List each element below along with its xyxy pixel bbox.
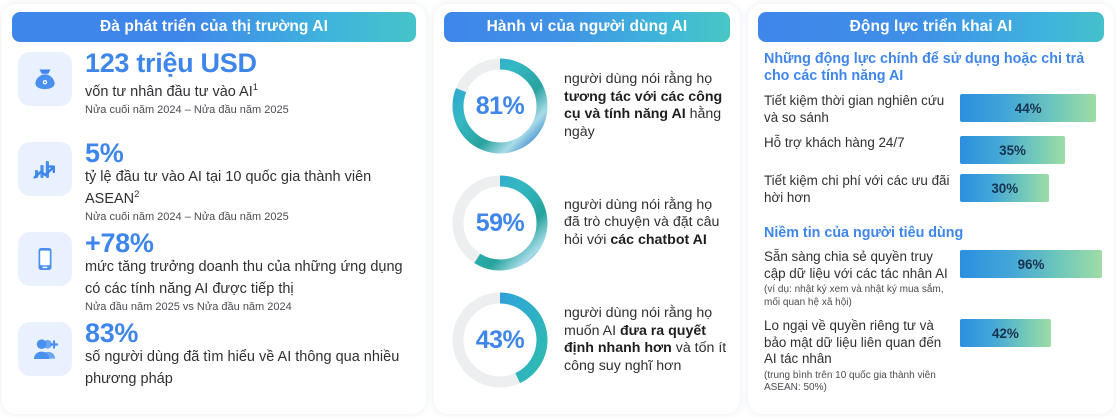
bar-label: Lo ngại về quyền riêng tư và bảo mật dữ … bbox=[764, 318, 954, 368]
users-plus-icon bbox=[18, 322, 72, 376]
donut-value-label: 43% bbox=[448, 288, 552, 392]
stat-description-text: số người dùng đã tìm hiểu về AI thông qu… bbox=[85, 349, 399, 387]
stat-value: 123 triệu USD bbox=[85, 48, 289, 78]
stat-note: Nửa cuối năm 2024 – Nửa đầu năm 2025 bbox=[85, 103, 289, 117]
panel-market-momentum: Đà phát triển của thị trường AI 123 triệ… bbox=[2, 4, 426, 414]
donut-chart-43: 43% bbox=[448, 288, 552, 392]
bar-label: Hỗ trợ khách hàng 24/7 bbox=[764, 135, 954, 152]
bar-row: Tiết kiệm chi phí với các ưu đãi hời hơn… bbox=[764, 173, 1102, 206]
bar-label: Sẵn sàng chia sẻ quyền truy cập dữ liệu … bbox=[764, 249, 954, 282]
stat-description: vốn tư nhân đầu tư vào AI1 bbox=[85, 79, 289, 101]
bar-value-label: 42% bbox=[992, 326, 1019, 341]
stat-note: Nửa cuối năm 2024 – Nửa đầu năm 2025 bbox=[85, 210, 416, 224]
bar-label: Tiết kiệm chi phí với các ưu đãi hời hơn bbox=[764, 173, 954, 206]
donut-description: người dùng nói rằng họ tương tác với các… bbox=[564, 71, 730, 141]
panel-title-market-momentum: Đà phát triển của thị trường AI bbox=[12, 12, 416, 42]
stat-value: +78% bbox=[85, 228, 416, 258]
bar-fill: 96% bbox=[960, 250, 1102, 278]
bar-label-wrap: Tiết kiệm thời gian nghiên cứu và so sán… bbox=[764, 93, 960, 126]
stat-row: 83% số người dùng đã tìm hiểu về AI thôn… bbox=[18, 318, 416, 408]
bar-row: Lo ngại về quyền riêng tư và bảo mật dữ … bbox=[764, 318, 1102, 395]
footnote-marker: 1 bbox=[253, 82, 258, 93]
stat-list: 123 triệu USD vốn tư nhân đầu tư vào AI1… bbox=[12, 42, 416, 408]
donut-chart-81: 81% bbox=[448, 54, 552, 158]
donut-description: người dùng nói rằng họ muốn AI đưa ra qu… bbox=[564, 305, 730, 375]
bar-value-label: 30% bbox=[991, 181, 1018, 196]
bar-track: 96% bbox=[960, 249, 1102, 278]
donut-row: 59% người dùng nói rằng họ đã trò chuyện… bbox=[448, 169, 730, 277]
section-heading-drivers: Những động lực chính để sử dụng hoặc chi… bbox=[764, 51, 1102, 85]
bar-fill: 44% bbox=[960, 94, 1096, 122]
stat-note: Nửa đầu năm 2025 vs Nửa đầu năm 2024 bbox=[85, 300, 416, 314]
panel-adoption-drivers: Động lực triển khai AI Những động lực ch… bbox=[748, 4, 1114, 414]
bar-value-label: 35% bbox=[999, 143, 1026, 158]
donut-value-label: 81% bbox=[448, 54, 552, 158]
bar-value-label: 44% bbox=[1015, 101, 1042, 116]
bar-chart-list: Những động lực chính để sử dụng hoặc chi… bbox=[758, 42, 1104, 404]
footnote-marker: 2 bbox=[134, 189, 139, 200]
panel-title-user-behaviour: Hành vi của người dùng AI bbox=[444, 12, 730, 42]
smartphone-icon bbox=[18, 232, 72, 286]
stat-description: số người dùng đã tìm hiểu về AI thông qu… bbox=[85, 349, 416, 388]
stat-value: 5% bbox=[85, 138, 416, 168]
bar-track: 30% bbox=[960, 173, 1102, 202]
panel-user-behaviour: Hành vi của người dùng AI bbox=[434, 4, 740, 414]
panel-title-adoption-drivers: Động lực triển khai AI bbox=[758, 12, 1104, 42]
stat-row: 123 triệu USD vốn tư nhân đầu tư vào AI1… bbox=[18, 48, 416, 138]
stat-description: tỷ lệ đầu tư vào AI tại 10 quốc gia thàn… bbox=[85, 169, 416, 208]
section-heading-trust: Niềm tin của người tiêu dùng bbox=[764, 225, 1102, 242]
donut-value-label: 59% bbox=[448, 171, 552, 275]
donut-description: người dùng nói rằng họ đã trò chuyện và … bbox=[564, 197, 730, 250]
bar-row: Sẵn sàng chia sẻ quyền truy cập dữ liệu … bbox=[764, 249, 1102, 309]
bar-fill: 35% bbox=[960, 136, 1065, 164]
bar-label-wrap: Tiết kiệm chi phí với các ưu đãi hời hơn bbox=[764, 173, 960, 206]
stat-body: 123 triệu USD vốn tư nhân đầu tư vào AI1… bbox=[85, 48, 289, 117]
donut-chart-59: 59% bbox=[448, 171, 552, 275]
bar-row: Hỗ trợ khách hàng 24/7 35% bbox=[764, 135, 1102, 164]
bar-sublabel: (ví dụ: nhật ký xem và nhật ký mua sắm, … bbox=[764, 284, 954, 309]
bar-track: 42% bbox=[960, 318, 1102, 347]
bar-label-wrap: Sẵn sàng chia sẻ quyền truy cập dữ liệu … bbox=[764, 249, 960, 309]
stat-description-text: mức tăng trưởng doanh thu của những ứng … bbox=[85, 259, 403, 297]
bar-label-wrap: Hỗ trợ khách hàng 24/7 bbox=[764, 135, 960, 152]
bar-label: Tiết kiệm thời gian nghiên cứu và so sán… bbox=[764, 93, 954, 126]
stat-body: 83% số người dùng đã tìm hiểu về AI thôn… bbox=[85, 318, 416, 390]
bar-sublabel: (trung bình trên 10 quốc gia thành viên … bbox=[764, 370, 954, 395]
bar-row: Tiết kiệm thời gian nghiên cứu và so sán… bbox=[764, 93, 1102, 126]
bar-label-wrap: Lo ngại về quyền riêng tư và bảo mật dữ … bbox=[764, 318, 960, 395]
bar-value-label: 96% bbox=[1018, 257, 1045, 272]
bar-fill: 30% bbox=[960, 174, 1049, 202]
growth-chart-icon bbox=[18, 142, 72, 196]
stat-body: +78% mức tăng trưởng doanh thu của những… bbox=[85, 228, 416, 314]
stat-description-text: tỷ lệ đầu tư vào AI tại 10 quốc gia thàn… bbox=[85, 169, 371, 207]
stat-row: +78% mức tăng trưởng doanh thu của những… bbox=[18, 228, 416, 318]
stat-value: 83% bbox=[85, 318, 416, 348]
bar-track: 35% bbox=[960, 135, 1102, 164]
donut-row: 43% người dùng nói rằng họ muốn AI đưa r… bbox=[448, 286, 730, 394]
bar-track: 44% bbox=[960, 93, 1102, 122]
stat-body: 5% tỷ lệ đầu tư vào AI tại 10 quốc gia t… bbox=[85, 138, 416, 224]
stat-description: mức tăng trưởng doanh thu của những ứng … bbox=[85, 259, 416, 298]
infographic-root: Đà phát triển của thị trường AI 123 triệ… bbox=[0, 0, 1116, 418]
bar-fill: 42% bbox=[960, 319, 1051, 347]
donut-list: 81% người dùng nói rằng họ tương tác với… bbox=[444, 42, 730, 394]
stat-description-text: vốn tư nhân đầu tư vào AI bbox=[85, 84, 253, 100]
donut-row: 81% người dùng nói rằng họ tương tác với… bbox=[448, 52, 730, 160]
money-bag-icon bbox=[18, 52, 72, 106]
stat-row: 5% tỷ lệ đầu tư vào AI tại 10 quốc gia t… bbox=[18, 138, 416, 228]
